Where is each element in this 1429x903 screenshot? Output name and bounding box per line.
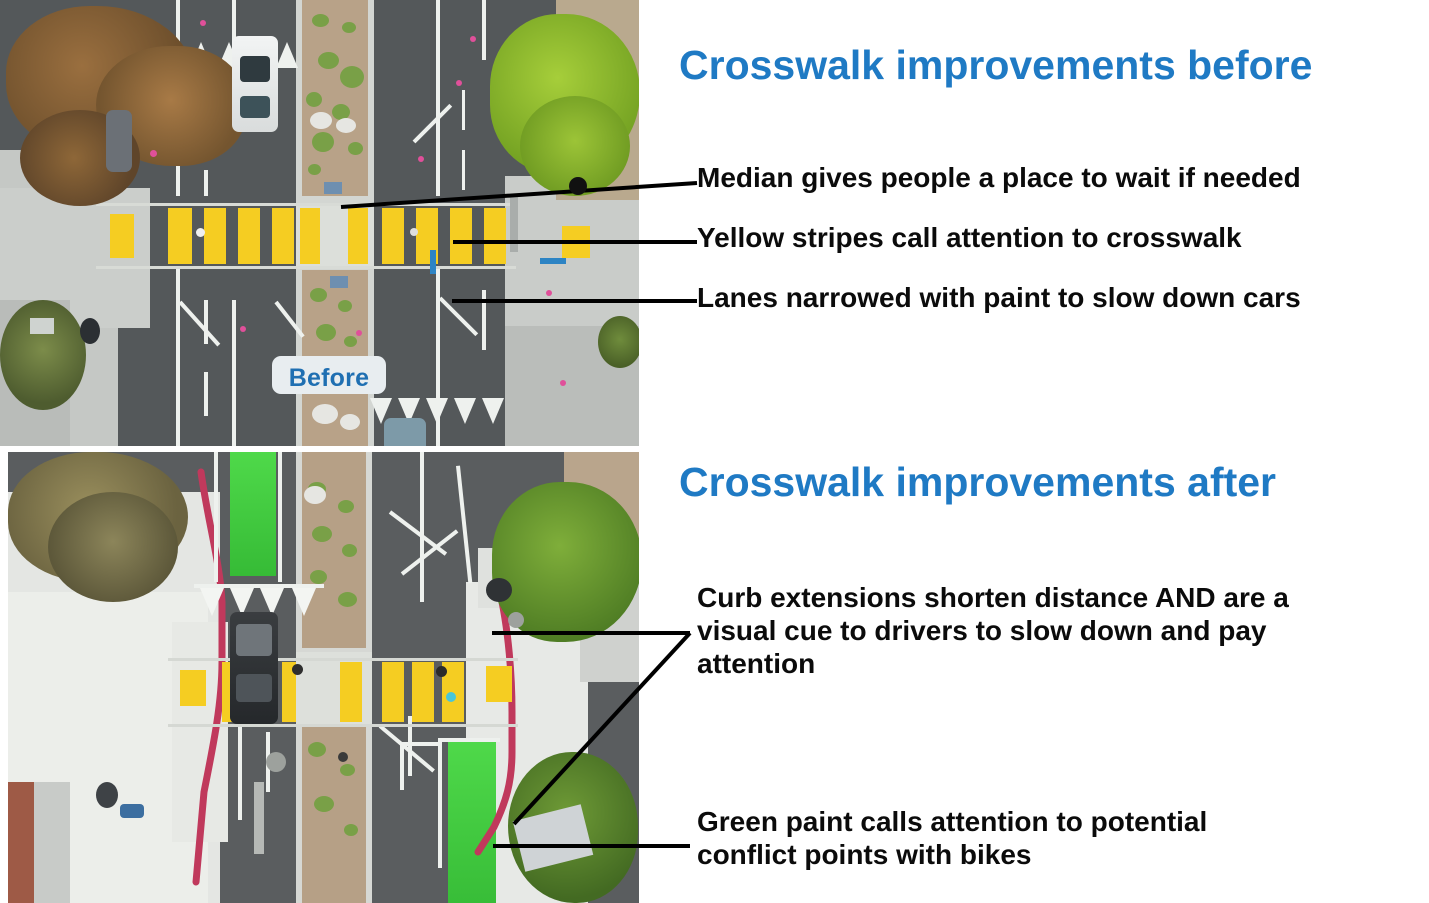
manhole-cover xyxy=(508,612,524,628)
median-shrub xyxy=(340,66,364,88)
survey-mark xyxy=(200,20,206,26)
callout-curb-extensions-text: Curb extensions shorten distance AND are… xyxy=(697,582,1347,680)
crosswalk-stripe xyxy=(450,208,472,264)
after-scene xyxy=(8,452,639,903)
yield-triangle xyxy=(482,398,504,424)
tree-canopy-grey-green xyxy=(48,492,178,602)
tree-canopy-olive xyxy=(0,300,86,410)
median-rock xyxy=(340,414,360,430)
survey-mark xyxy=(418,156,424,162)
crosswalk-stripe xyxy=(484,208,506,264)
building-tile-roof xyxy=(8,782,34,903)
car-rear-window xyxy=(240,96,270,118)
pedestrian xyxy=(292,664,303,675)
survey-mark xyxy=(470,36,476,42)
crosswalk-stripe xyxy=(382,208,404,264)
median-shrub xyxy=(312,132,334,152)
plaza-object-dark xyxy=(486,578,512,602)
median-rock xyxy=(336,118,356,133)
before-aerial-photo: Before xyxy=(0,0,639,446)
plaza-object xyxy=(30,318,54,334)
plaza-object-blue xyxy=(120,804,144,818)
survey-mark xyxy=(356,330,362,336)
lane-dash xyxy=(204,372,208,416)
light-pole xyxy=(254,782,264,854)
bike-lane-line xyxy=(214,452,218,582)
crosswalk-stripe xyxy=(204,208,226,264)
median-sign xyxy=(330,276,348,288)
median-rock xyxy=(310,112,332,129)
slide-canvas: Before xyxy=(0,0,1429,903)
pedestrian xyxy=(410,228,418,236)
signal-pole-shadow xyxy=(510,196,518,252)
crosswalk-stripe xyxy=(300,208,320,264)
red-curb-line-right xyxy=(478,602,512,852)
crosswalk-stripe xyxy=(382,662,404,722)
car-windshield xyxy=(240,56,270,82)
crosswalk-stripe xyxy=(272,208,294,264)
yield-triangle xyxy=(454,398,476,424)
lane-dash xyxy=(462,90,465,130)
bike-lane-line xyxy=(400,742,404,790)
survey-mark xyxy=(560,380,566,386)
median-shrub xyxy=(308,164,321,175)
yield-triangle xyxy=(276,42,298,68)
median-shrub xyxy=(348,142,363,155)
median-sign xyxy=(324,182,342,194)
car-blue-bottom xyxy=(384,418,426,446)
bike-lane-line xyxy=(438,738,442,868)
lane-dash xyxy=(462,150,465,190)
crosswalk-stripe xyxy=(348,208,368,264)
bicyclist xyxy=(436,666,447,677)
lane-line xyxy=(482,0,486,60)
lane-dash xyxy=(204,300,208,344)
curb-ramp-marking xyxy=(562,226,590,258)
pedestrian xyxy=(446,692,456,702)
car-roof-rack xyxy=(236,624,272,656)
bike-box-edge xyxy=(400,742,442,746)
callout-green-paint-text: Green paint calls attention to potential… xyxy=(697,806,1297,872)
crosswalk-stripe xyxy=(110,214,134,258)
lane-line xyxy=(232,300,236,446)
median-shrub xyxy=(344,336,357,347)
median-shrub xyxy=(312,14,329,27)
crosswalk-edge xyxy=(168,724,518,727)
crosswalk-stripe xyxy=(340,662,362,722)
curb-ramp-marking xyxy=(180,670,206,706)
median-shrub xyxy=(318,52,339,69)
crosswalk-stripe xyxy=(238,208,260,264)
lane-line xyxy=(176,266,180,446)
tree-canopy-green xyxy=(520,96,630,196)
crosswalk-edge xyxy=(168,658,518,661)
parked-car-grey xyxy=(106,110,132,172)
lane-dash xyxy=(204,170,208,196)
bike-lane-line xyxy=(278,452,282,582)
median-shrub xyxy=(342,22,356,33)
median-rock xyxy=(312,404,338,424)
median-shrub xyxy=(310,288,327,302)
lane-line xyxy=(420,452,424,602)
crosswalk-edge xyxy=(96,203,516,206)
after-section-title: Crosswalk improvements after xyxy=(679,461,1276,504)
yield-triangle xyxy=(200,588,224,616)
before-photo-badge: Before xyxy=(272,356,386,394)
tree-canopy-green xyxy=(598,316,639,368)
crosswalk-stripe xyxy=(168,208,192,264)
pedestrian xyxy=(338,752,348,762)
plaza-object-dark xyxy=(96,782,118,808)
manhole-cover xyxy=(266,752,286,772)
car-windshield xyxy=(236,674,272,702)
yield-triangle xyxy=(292,588,316,616)
median-shrub xyxy=(338,300,352,312)
callout-lanes-narrowed-text: Lanes narrowed with paint to slow down c… xyxy=(697,282,1301,315)
after-aerial-photo: After Shorter crossing distance xyxy=(8,452,639,903)
survey-mark xyxy=(150,150,157,157)
bike-box-edge xyxy=(438,738,500,742)
before-section-title: Crosswalk improvements before xyxy=(679,44,1312,87)
crosswalk-stripe xyxy=(412,662,434,722)
pedestrian xyxy=(196,228,205,237)
lane-line xyxy=(436,0,440,196)
callout-median-text: Median gives people a place to wait if n… xyxy=(697,162,1301,195)
survey-mark xyxy=(546,290,552,296)
survey-mark xyxy=(456,80,462,86)
median-shrub xyxy=(306,92,322,107)
yield-line xyxy=(194,584,324,588)
yield-triangle xyxy=(426,398,448,424)
survey-mark xyxy=(240,326,246,332)
median-shrub xyxy=(316,324,336,341)
callout-yellow-stripes-text: Yellow stripes call attention to crosswa… xyxy=(697,222,1242,255)
blue-marking xyxy=(540,258,566,264)
lane-dash xyxy=(482,290,486,350)
curb-ramp-marking xyxy=(486,666,512,702)
plaza-object-dark xyxy=(80,318,100,344)
blue-marking xyxy=(430,250,436,274)
lane-line xyxy=(238,724,242,820)
crosswalk-edge xyxy=(96,266,516,269)
